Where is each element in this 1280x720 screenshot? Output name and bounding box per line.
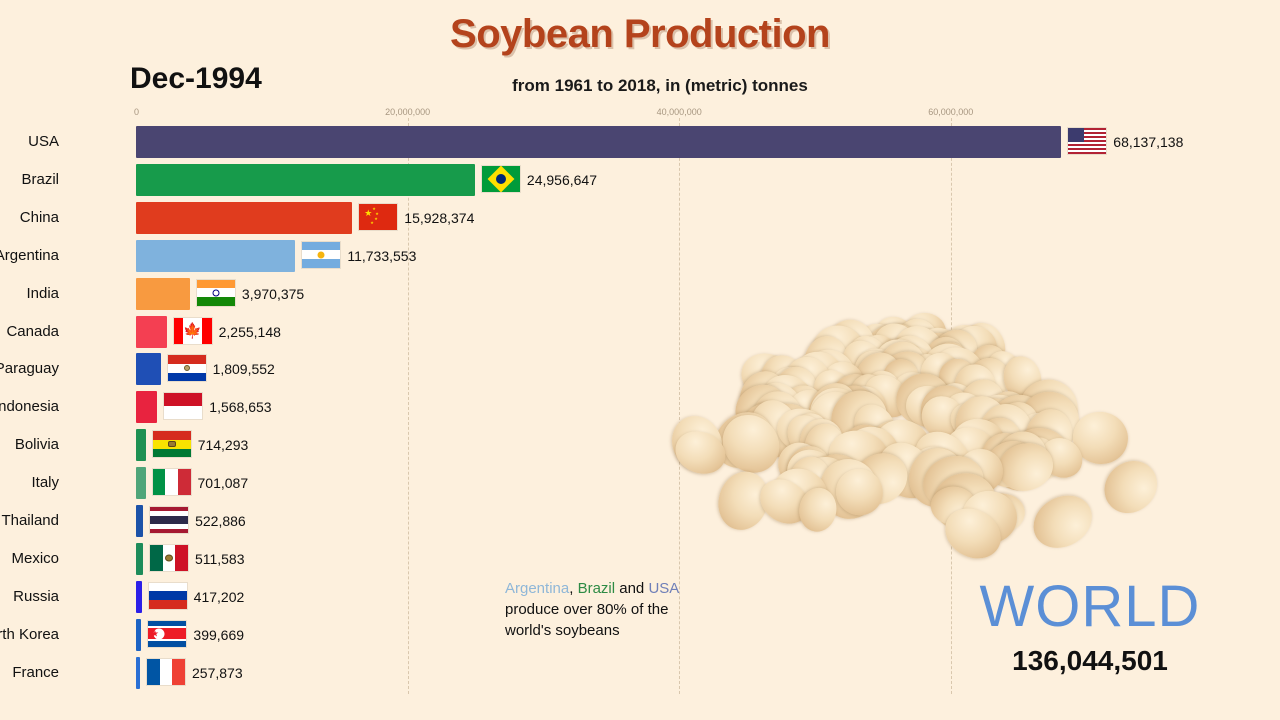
flag-thailand-icon [149, 506, 189, 534]
bar[interactable] [136, 316, 167, 348]
flag-italy-icon [152, 468, 192, 496]
flag-usa-icon [1067, 127, 1107, 155]
annotation-line-3: world's soybeans [505, 622, 620, 639]
bar-row-country-label: France [12, 657, 59, 689]
bar-row-country-label: Indonesia [0, 391, 59, 423]
x-tick-label: 20,000,000 [385, 107, 430, 117]
flag-russia-icon [148, 582, 188, 610]
flag-france-icon [146, 658, 186, 686]
soybean [1024, 486, 1102, 559]
bar[interactable] [136, 429, 146, 461]
bar-row-country-label: Thailand [1, 505, 59, 537]
bar[interactable] [136, 619, 141, 651]
bar[interactable] [136, 581, 142, 613]
x-tick-label: 0 [134, 107, 139, 117]
annotation-country-brazil: Brazil [578, 580, 616, 597]
annotation-text: Argentina, Brazil and USA produce over 8… [505, 578, 735, 641]
chart-canvas: Soybean Production from 1961 to 2018, in… [0, 0, 1280, 720]
bar-row-country-label: Canada [6, 316, 59, 348]
annotation-country-argentina: Argentina [505, 580, 569, 597]
bar-row-country-label: Italy [31, 467, 59, 499]
bar[interactable] [136, 202, 352, 234]
bar-row-country-label: Brazil [21, 164, 59, 196]
bar-row-country-label: USA [28, 126, 59, 158]
flag-brazil-icon [481, 165, 521, 193]
bar-value-label: 11,733,553 [347, 240, 416, 272]
bar-value-label: 701,087 [198, 467, 249, 499]
bar-value-label: 714,293 [198, 429, 249, 461]
bar[interactable] [136, 240, 295, 272]
bar-row-country-label: Russia [13, 581, 59, 613]
annotation-sep-1: , [569, 580, 577, 597]
bar-value-label: 417,202 [194, 581, 245, 613]
bar-value-label: 257,873 [192, 657, 243, 689]
bar-row-country-label: Mexico [11, 543, 59, 575]
x-tick-label: 40,000,000 [657, 107, 702, 117]
x-tick-label: 60,000,000 [928, 107, 973, 117]
bar[interactable] [136, 353, 161, 385]
bar[interactable] [136, 126, 1061, 158]
flag-indonesia-icon [163, 392, 203, 420]
bar[interactable] [136, 543, 143, 575]
flag-india-icon [196, 279, 236, 307]
bar[interactable] [136, 391, 157, 423]
flag-canada-icon: 🍁 [173, 317, 213, 345]
annotation-sep-2: and [615, 580, 648, 597]
bar-value-label: 68,137,138 [1113, 126, 1183, 158]
annotation-country-usa: USA [648, 580, 679, 597]
flag-paraguay-icon [167, 354, 207, 382]
bar[interactable] [136, 467, 146, 499]
bar-row-country-label: China [20, 202, 59, 234]
bar-value-label: 2,255,148 [219, 316, 281, 348]
bar[interactable] [136, 164, 475, 196]
bar-value-label: 3,970,375 [242, 278, 304, 310]
bar-row-country-label: North Korea [0, 619, 59, 651]
world-total-value: 136,044,501 [930, 645, 1250, 677]
bar-value-label: 24,956,647 [527, 164, 597, 196]
bar-value-label: 1,809,552 [213, 353, 275, 385]
bar-row-country-label: India [26, 278, 59, 310]
bar-row-country-label: Bolivia [15, 429, 59, 461]
annotation-line-2: produce over 80% of the [505, 601, 668, 618]
bar-row-country-label: Paraguay [0, 353, 59, 385]
bar[interactable] [136, 278, 190, 310]
flag-argentina-icon [301, 241, 341, 269]
flag-china-icon: ★★★★★ [358, 203, 398, 231]
bar[interactable] [136, 657, 140, 689]
flag-bolivia-icon [152, 430, 192, 458]
bar-value-label: 522,886 [195, 505, 246, 537]
flag-north-korea-icon: ★ [147, 620, 187, 648]
world-total-label: WORLD [930, 578, 1250, 636]
flag-mexico-icon [149, 544, 189, 572]
bar-value-label: 15,928,374 [404, 202, 474, 234]
bar-value-label: 511,583 [195, 543, 245, 575]
soybean-pile-photo [615, 165, 1175, 565]
bar-value-label: 1,568,653 [209, 391, 271, 423]
bar[interactable] [136, 505, 143, 537]
bar-value-label: 399,669 [193, 619, 244, 651]
bar-row-country-label: Argentina [0, 240, 59, 272]
bar-row[interactable]: USA68,137,138 [0, 126, 1280, 164]
